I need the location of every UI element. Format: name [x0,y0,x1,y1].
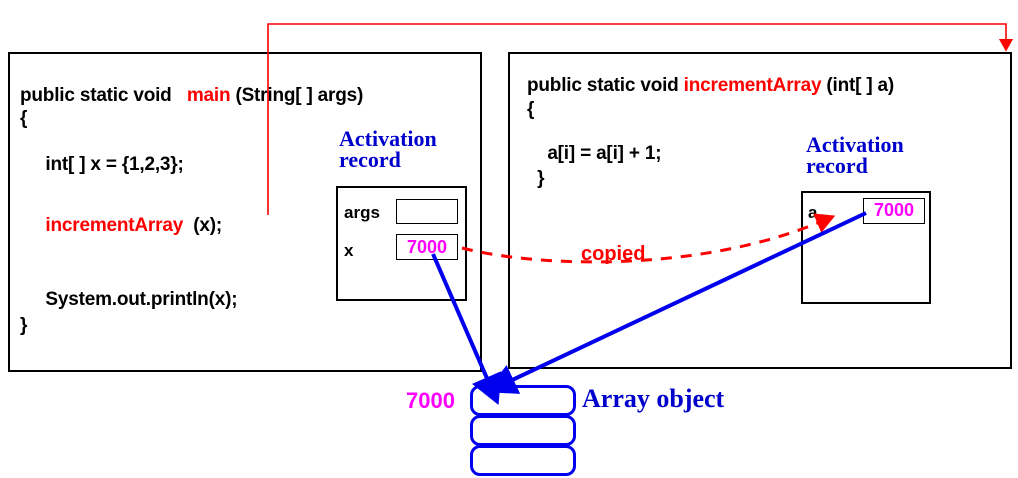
code-text: (x); [183,215,222,236]
incr-activation-record-title: Activation record [806,134,904,176]
incr-ar-value-a: 7000 [863,200,925,220]
main-code-line-4: System.out.println(x); [20,289,237,311]
incr-code-line-3: } [527,168,544,190]
diagram-canvas: public static void main (String[ ] args)… [0,0,1018,478]
call-incrementarray: incrementArray [45,215,183,236]
array-cell-2[interactable] [470,445,576,476]
method-name-incrementarray: incrementArray [684,75,822,96]
code-text: } [527,168,544,189]
main-activation-record-title: Activation record [339,128,437,170]
main-code-line-5: } [20,315,27,337]
code-text: { [527,99,534,120]
main-ar-row-label-args: args [344,203,380,223]
copied-annotation-label: copied [581,243,645,266]
code-text: System.out.println(x); [20,289,237,310]
code-text: public static void [527,75,684,96]
array-cell-1[interactable] [470,415,576,446]
main-ar-slot-args[interactable] [396,199,458,224]
incr-code-line-1: { [527,99,534,121]
array-cell-0[interactable] [470,385,576,416]
array-object-label: Array object [582,384,724,414]
code-text: public static void [20,85,187,106]
code-text: { [20,108,27,129]
main-code-line-0: public static void main (String[ ] args) [20,85,363,107]
main-ar-row-label-x: x [344,241,353,261]
code-text: int[ ] x = {1,2,3}; [20,154,184,175]
incr-code-line-0: public static void incrementArray (int[ … [527,75,894,97]
code-text: (String[ ] args) [230,85,363,106]
code-text: a[i] = a[i] + 1; [527,143,661,164]
main-code-line-2: int[ ] x = {1,2,3}; [20,154,184,176]
incr-ar-row-label-a: a [808,203,817,223]
main-code-line-1: { [20,108,27,130]
main-ar-value-x: 7000 [396,237,458,257]
array-address-label: 7000 [406,388,455,414]
method-name-main: main [187,85,231,106]
incr-code-line-2: a[i] = a[i] + 1; [527,143,661,165]
main-code-line-3: incrementArray (x); [20,215,222,237]
incrementarray-method-panel [508,52,1012,369]
code-text [20,215,45,236]
code-text: (int[ ] a) [821,75,894,96]
code-text: } [20,315,27,336]
